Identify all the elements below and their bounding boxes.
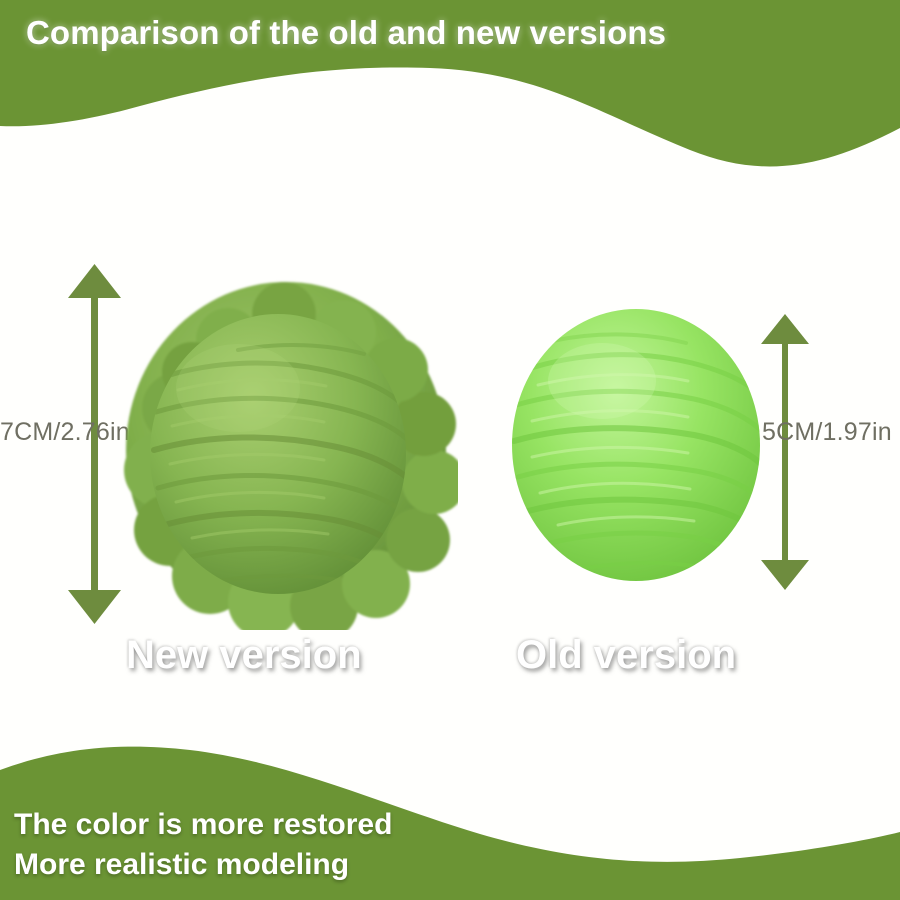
old-version-specular	[548, 343, 656, 419]
product-comparison-graphic: Comparison of the old and new versions 7…	[0, 0, 900, 900]
caption-new-version: New version	[126, 633, 362, 678]
footer-line-2: More realistic modeling	[14, 845, 392, 885]
product-image-new-version	[118, 258, 458, 630]
arrow-shaft-old	[782, 338, 788, 568]
footer-feature-list: The color is more restored More realisti…	[14, 805, 392, 885]
product-image-old-version	[508, 305, 770, 590]
arrow-head-down-new	[68, 590, 121, 624]
dimension-label-old-version: 5CM/1.97in	[762, 418, 892, 447]
dimension-label-new-version: 7CM/2.76in	[0, 418, 130, 447]
caption-old-version: Old version	[516, 633, 736, 678]
footer-line-1: The color is more restored	[14, 805, 392, 845]
arrow-head-up-new	[68, 264, 121, 298]
page-title: Comparison of the old and new versions	[26, 14, 666, 52]
